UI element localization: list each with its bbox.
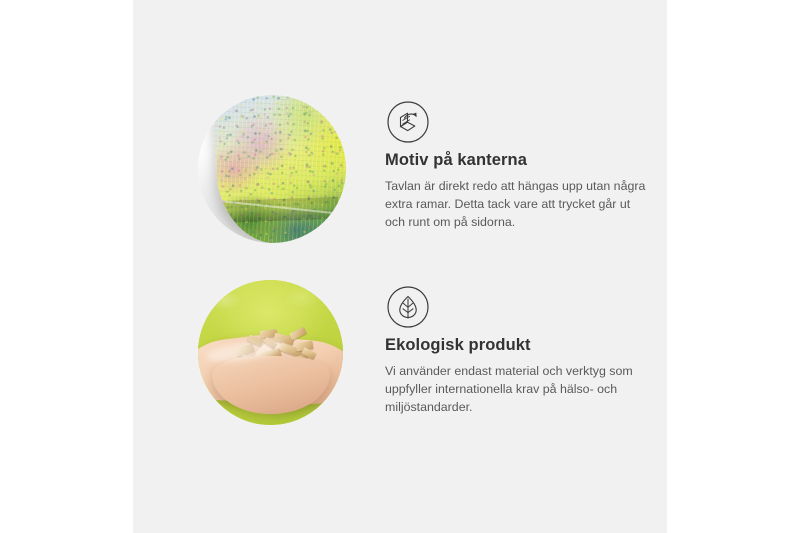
canvas-wrapped-edges-icon (386, 100, 430, 144)
feature-text-block: Ekologisk produkt Vi använder endast mat… (385, 336, 653, 416)
feature-text-block: Motiv på kanterna Tavlan är direkt redo … (385, 151, 653, 231)
leaf-icon (386, 285, 430, 329)
canvas-print-corner-photo (198, 95, 346, 243)
hands-holding-wood-chips-photo (198, 280, 343, 425)
product-info-graphic: Motiv på kanterna Tavlan är direkt redo … (0, 0, 800, 533)
feature-title: Motiv på kanterna (385, 151, 653, 171)
feature-description: Tavlan är direkt redo att hängas upp uta… (385, 177, 653, 231)
content-panel: Motiv på kanterna Tavlan är direkt redo … (133, 0, 667, 533)
feature-description: Vi använder endast material och verktyg … (385, 362, 653, 416)
canvas-corner-shape (212, 95, 346, 243)
feature-title: Ekologisk produkt (385, 336, 653, 356)
